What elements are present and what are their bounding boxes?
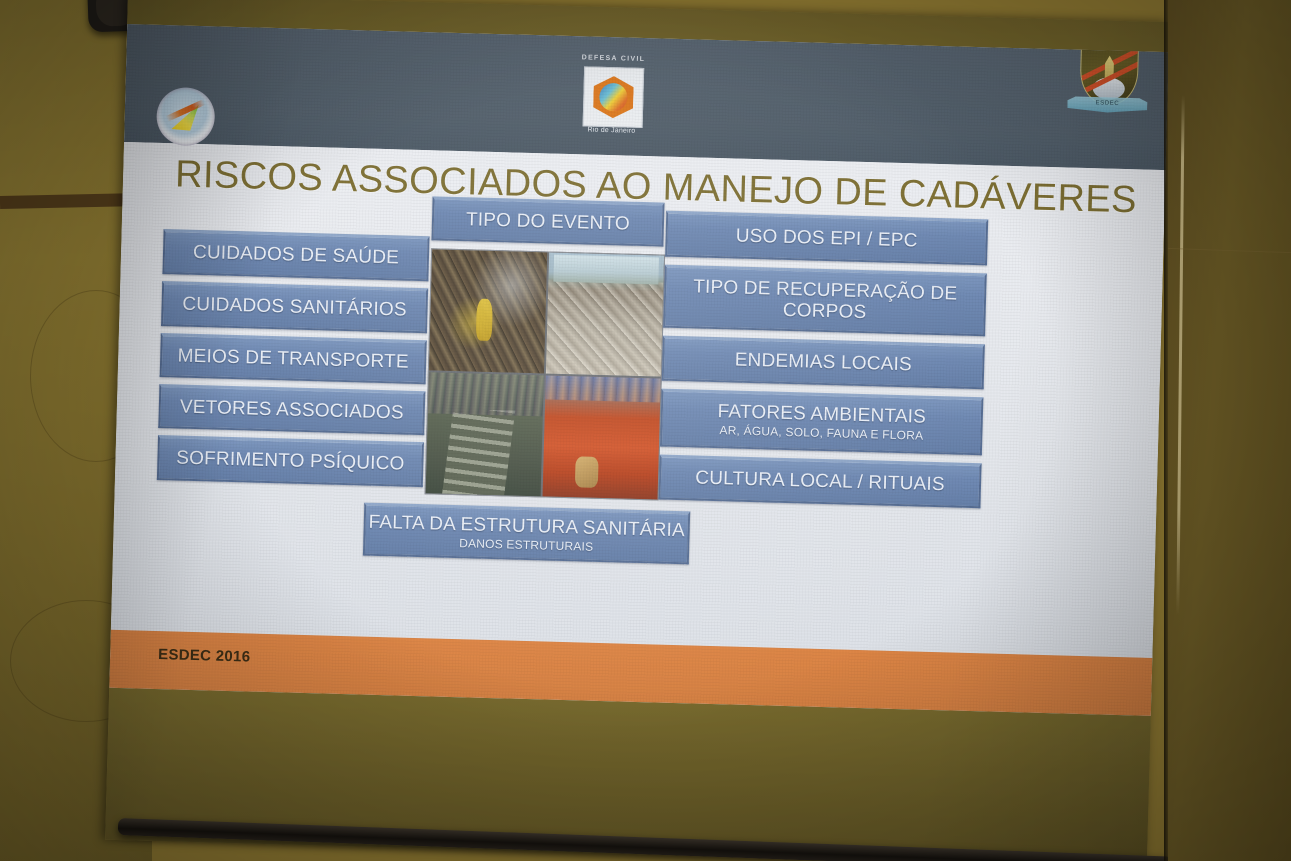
box-cuidados-sanitarios: CUIDADOS SANITÁRIOS [161,281,428,333]
box-falta-da-estrutura-sanitaria: FALTA DA ESTRUTURA SANITÁRIA DANOS ESTRU… [363,503,690,565]
box-label: TIPO DE RECUPERAÇÃO DE CORPOS [665,275,984,326]
box-uso-dos-epi-epc: USO DOS EPI / EPC [665,211,988,266]
box-label: FALTA DA ESTRUTURA SANITÁRIA [368,511,685,541]
collage-photo [429,249,547,373]
defesa-civil-bottom-text: Rio de Janeiro [574,126,648,135]
defesa-civil-plate-icon [583,66,645,128]
defesa-civil-logo: DEFESA CIVIL Rio de Janeiro [572,42,653,144]
right-wall [1168,0,1291,861]
box-label: TIPO DO EVENTO [466,209,630,235]
box-sofrimento-psiquico: SOFRIMENTO PSÍQUICO [157,435,424,487]
emblem-circle-icon [156,87,216,147]
box-cuidados-de-saude: CUIDADOS DE SAÚDE [162,229,429,281]
box-label: ENDEMIAS LOCAIS [734,350,912,376]
tower-icon [1099,55,1120,82]
box-label: USO DOS EPI / EPC [735,225,917,251]
defesa-civil-mark: DEFESA CIVIL Rio de Janeiro [572,42,653,144]
box-label: CULTURA LOCAL / RITUAIS [695,468,945,496]
wall-trim-line [0,193,124,209]
box-label: SOFRIMENTO PSÍQUICO [176,448,405,475]
room-scene: DEFESA CIVIL Rio de Janeiro ESDEC [0,0,1291,861]
box-endemias-locais: ENDEMIAS LOCAIS [662,336,985,390]
box-sublabel: DANOS ESTRUTURAIS [459,537,593,554]
projection-screen: DEFESA CIVIL Rio de Janeiro ESDEC [105,0,1170,861]
box-cultura-local-rituais: CULTURA LOCAL / RITUAIS [659,455,982,509]
collage-photo [426,372,544,496]
box-fatores-ambientais: FATORES AMBIENTAIS AR, ÁGUA, SOLO, FAUNA… [660,389,983,456]
collage-photo [546,252,664,376]
box-sublabel: AR, ÁGUA, SOLO, FAUNA E FLORA [719,425,923,444]
disaster-photo-collage [425,248,666,500]
defesa-civil-top-text: DEFESA CIVIL [576,54,650,63]
globe-icon [1093,77,1126,100]
escola-emblem-logo [156,87,216,147]
slide-footer-text: ESDEC 2016 [158,646,251,665]
box-label: MEIOS DE TRANSPORTE [177,345,409,373]
box-label: VETORES ASSOCIADOS [180,396,404,423]
box-label: CUIDADOS DE SAÚDE [193,242,400,269]
box-tipo-de-recuperacao-de-corpos: TIPO DE RECUPERAÇÃO DE CORPOS [663,265,987,337]
box-vetores-associados: VETORES ASSOCIADOS [158,384,425,435]
collage-photo [543,375,661,499]
box-tipo-do-evento: TIPO DO EVENTO [431,196,664,246]
presentation-slide: DEFESA CIVIL Rio de Janeiro ESDEC [109,24,1169,716]
box-label: CUIDADOS SANITÁRIOS [182,294,407,321]
box-meios-de-transporte: MEIOS DE TRANSPORTE [160,333,427,384]
